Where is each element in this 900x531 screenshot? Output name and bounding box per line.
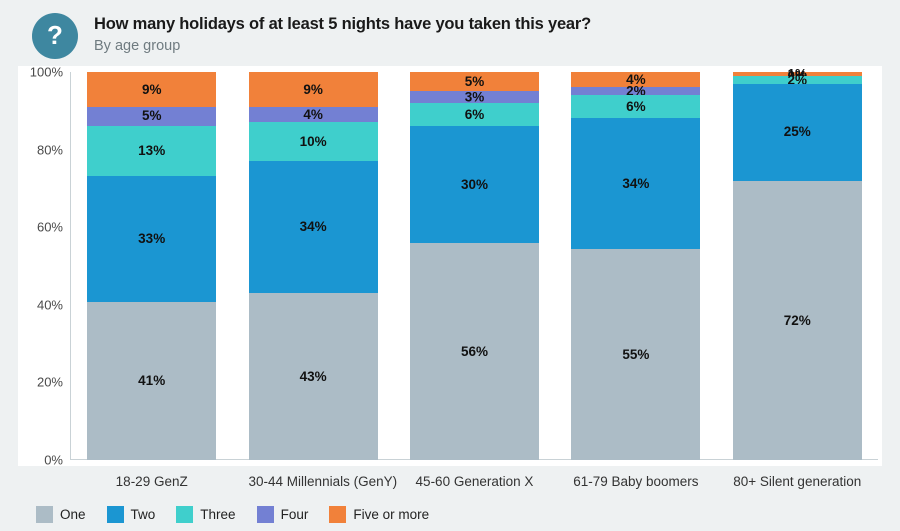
bar-column[interactable]: 5%3%6%30%56% [410,72,539,460]
bar-segment-label: 4% [303,108,323,122]
legend-swatch [36,506,53,523]
x-axis-label: 30-44 Millennials (GenY) [249,474,378,489]
bar-segment[interactable]: 56% [410,243,539,460]
legend-item[interactable]: One [36,506,86,523]
legend-label: Four [281,507,309,522]
bar-segment-label: 33% [138,232,165,246]
bar-segment[interactable]: 34% [249,161,378,293]
page-subtitle: By age group [94,37,591,56]
bar-column[interactable]: 9%5%13%33%41% [87,72,216,460]
bar-segment-label: 56% [461,345,488,359]
page-title: How many holidays of at least 5 nights h… [94,14,591,35]
legend-item[interactable]: Four [257,506,309,523]
bar-segment[interactable]: 33% [87,176,216,303]
bar-segment[interactable]: 4% [249,107,378,123]
y-axis-tick: 80% [37,142,63,157]
bar-segment[interactable]: 9% [87,72,216,107]
bar-segment-label: 10% [300,135,327,149]
bar-segment[interactable]: 34% [571,118,700,249]
bar-segment[interactable]: 55% [571,249,700,460]
legend-item[interactable]: Two [107,506,156,523]
header-text-block: How many holidays of at least 5 nights h… [94,12,591,55]
legend-swatch [176,506,193,523]
bar-segment-label: 34% [300,220,327,234]
chart-page: ? How many holidays of at least 5 nights… [0,0,900,531]
bar-segment-label: 13% [138,144,165,158]
bar-segment-label: 6% [465,108,485,122]
bar-segment-label: 55% [622,348,649,362]
bar-segment[interactable]: 3% [410,91,539,103]
bar-segment-label: 6% [626,100,646,114]
bar-segment-label: 9% [303,83,323,97]
bar-column[interactable]: 1%0%2%25%72% [733,72,862,460]
bar-segment-label: 25% [784,125,811,139]
bar-segment[interactable]: 6% [410,103,539,126]
x-axis-label: 61-79 Baby boomers [571,474,700,489]
x-axis-label: 80+ Silent generation [733,474,862,489]
question-mark-icon: ? [32,13,78,59]
bar-segment-label: 41% [138,374,165,388]
legend-item[interactable]: Five or more [329,506,429,523]
bar-segment-label: 5% [142,109,162,123]
bar-segment-label: 34% [622,177,649,191]
legend-label: Three [200,507,235,522]
bar-segment[interactable]: 41% [87,302,216,460]
x-axis-label: 45-60 Generation X [410,474,539,489]
plot-area: 0%20%40%60%80%100% 9%5%13%33%41%9%4%10%3… [18,66,882,466]
y-axis-tick: 60% [37,220,63,235]
legend-swatch [257,506,274,523]
chart-legend: OneTwoThreeFourFive or more [0,496,900,526]
y-axis-tick: 100% [30,65,63,80]
bar-segment[interactable]: 6% [571,95,700,118]
bar-segment-label: 5% [465,75,485,89]
y-axis: 0%20%40%60%80%100% [18,72,70,460]
bar-segment[interactable]: 2% [733,76,862,84]
bar-segment-label: 9% [142,83,162,97]
legend-label: Two [131,507,156,522]
y-axis-tick: 40% [37,297,63,312]
bars-container: 9%5%13%33%41%9%4%10%34%43%5%3%6%30%56%4%… [71,72,878,460]
legend-swatch [329,506,346,523]
bar-segment[interactable]: 10% [249,122,378,161]
bar-segment[interactable]: 2% [571,87,700,95]
bar-segment[interactable]: 9% [249,72,378,107]
x-axis-label: 18-29 GenZ [87,474,216,489]
legend-item[interactable]: Three [176,506,235,523]
bar-segment[interactable]: 72% [733,181,862,460]
y-axis-tick: 20% [37,375,63,390]
legend-label: One [60,507,86,522]
y-axis-tick: 0% [44,453,63,468]
bar-segment-label: 72% [784,314,811,328]
bar-segment-label: 3% [465,91,485,105]
bar-segment[interactable]: 30% [410,126,539,242]
svg-text:?: ? [47,21,63,50]
legend-label: Five or more [353,507,429,522]
bar-column[interactable]: 4%2%6%34%55% [571,72,700,460]
bar-column[interactable]: 9%4%10%34%43% [249,72,378,460]
legend-swatch [107,506,124,523]
bar-segment[interactable]: 13% [87,126,216,176]
bar-segment-label: 30% [461,178,488,192]
bar-segment[interactable]: 5% [87,107,216,126]
bar-segment-label: 43% [300,370,327,384]
bar-segment[interactable]: 25% [733,84,862,181]
chart-header: ? How many holidays of at least 5 nights… [0,0,900,66]
bar-segment[interactable]: 43% [249,293,378,460]
x-axis-labels: 18-29 GenZ30-44 Millennials (GenY)45-60 … [18,466,882,496]
